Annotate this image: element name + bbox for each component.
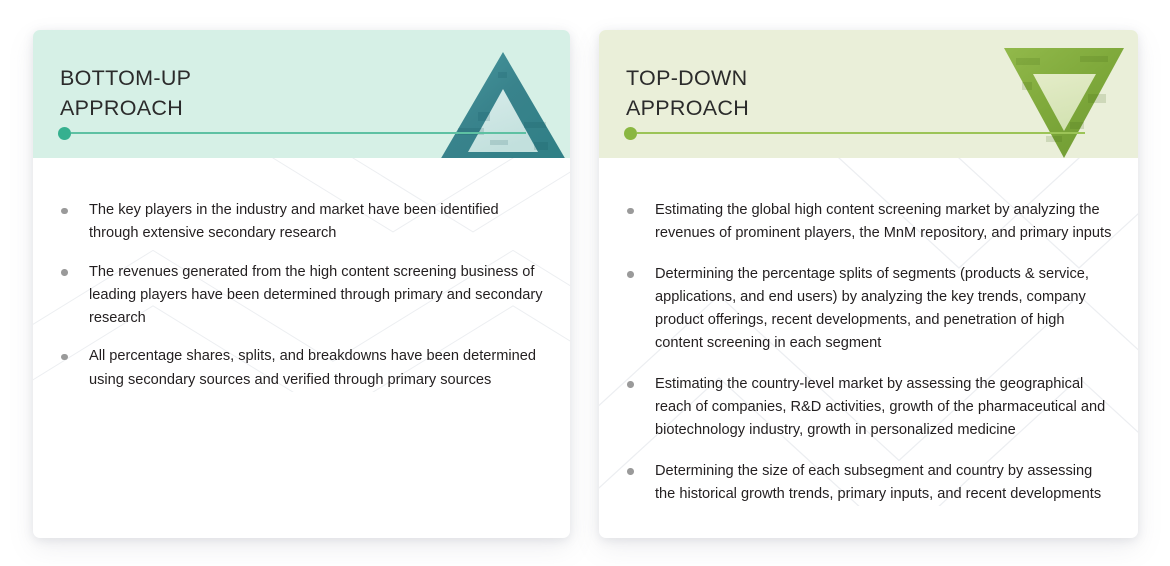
header-rule-bottom-up bbox=[58, 126, 526, 140]
bullet-dot-icon bbox=[627, 381, 634, 388]
list-item-text: Determining the size of each subsegment … bbox=[655, 463, 1101, 502]
panel-body-top-down: Estimating the global high content scree… bbox=[599, 158, 1138, 506]
list-item: The revenues generated from the high con… bbox=[59, 261, 544, 331]
bullet-dot-icon bbox=[61, 208, 68, 215]
bullet-list-top-down: Estimating the global high content scree… bbox=[625, 199, 1112, 506]
bullet-list-bottom-up: The key players in the industry and mark… bbox=[59, 199, 544, 392]
bullet-dot-icon bbox=[61, 354, 68, 361]
triangle-up-icon bbox=[438, 42, 568, 158]
rule-line bbox=[71, 132, 526, 134]
panel-body-bottom-up: The key players in the industry and mark… bbox=[33, 158, 570, 392]
list-item: Estimating the country-level market by a… bbox=[625, 373, 1112, 443]
list-item-text: Estimating the country-level market by a… bbox=[655, 376, 1105, 439]
rule-dot-icon bbox=[58, 127, 71, 140]
diagram-canvas: BOTTOM-UP APPROACH The key players in th… bbox=[0, 0, 1170, 566]
panel-title-top-down: TOP-DOWN APPROACH bbox=[626, 63, 749, 123]
panel-title-bottom-up: BOTTOM-UP APPROACH bbox=[60, 63, 191, 123]
bullet-dot-icon bbox=[61, 269, 68, 276]
list-item-text: Determining the percentage splits of seg… bbox=[655, 266, 1089, 352]
list-item: Determining the percentage splits of seg… bbox=[625, 263, 1112, 356]
list-item-text: The key players in the industry and mark… bbox=[89, 202, 499, 241]
bullet-dot-icon bbox=[627, 271, 634, 278]
bullet-dot-icon bbox=[627, 468, 634, 475]
list-item: All percentage shares, splits, and break… bbox=[59, 345, 544, 392]
list-item: Determining the size of each subsegment … bbox=[625, 460, 1112, 507]
list-item-text: The revenues generated from the high con… bbox=[89, 264, 543, 327]
bullet-dot-icon bbox=[627, 208, 634, 215]
list-item-text: Estimating the global high content scree… bbox=[655, 202, 1111, 241]
list-item: The key players in the industry and mark… bbox=[59, 199, 544, 246]
rule-line bbox=[637, 132, 1085, 134]
panel-header-bottom-up: BOTTOM-UP APPROACH bbox=[33, 30, 570, 158]
panel-top-down: TOP-DOWN APPROACH Estimating the global … bbox=[599, 30, 1138, 538]
rule-dot-icon bbox=[624, 127, 637, 140]
panel-header-top-down: TOP-DOWN APPROACH bbox=[599, 30, 1138, 158]
header-rule-top-down bbox=[624, 126, 1085, 140]
list-item: Estimating the global high content scree… bbox=[625, 199, 1112, 246]
panel-bottom-up: BOTTOM-UP APPROACH The key players in th… bbox=[33, 30, 570, 538]
list-item-text: All percentage shares, splits, and break… bbox=[89, 348, 536, 387]
